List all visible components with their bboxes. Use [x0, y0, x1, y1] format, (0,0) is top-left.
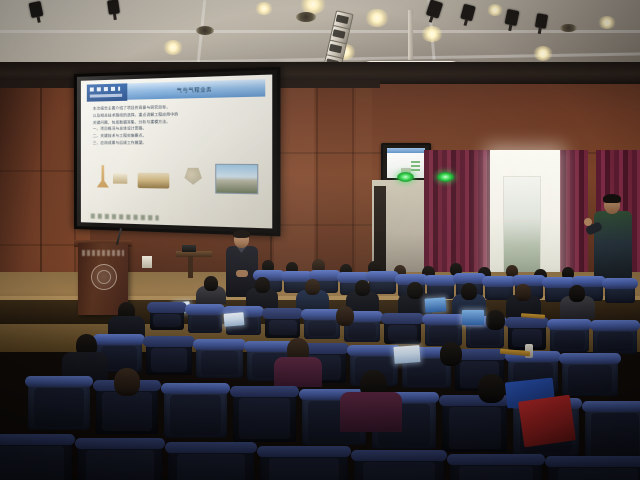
- seat[interactable]: [0, 436, 72, 480]
- audience-head: [255, 277, 270, 293]
- seat[interactable]: [304, 311, 340, 339]
- slide-body-text: 本次报告主要介绍了项目的背景与研究目标， 以及相关技术路线的选择。重点讲解工程应…: [93, 103, 261, 148]
- seat[interactable]: [427, 277, 454, 299]
- table-equipment: [182, 245, 196, 252]
- seat[interactable]: [585, 403, 640, 460]
- presenter-hair: [233, 230, 250, 238]
- audience-shoulders: [274, 357, 322, 387]
- audience-head: [461, 283, 477, 300]
- slide-figure-equipment-sketch: [113, 173, 127, 183]
- projection-screen[interactable]: 气与气程业务 本次报告主要介绍了项目的背景与研究目标， 以及相关技术路线的选择。…: [74, 67, 280, 237]
- laptop-screen[interactable]: [393, 345, 420, 364]
- recessed-light-icon: [560, 24, 577, 32]
- seat[interactable]: [384, 315, 421, 344]
- projector-mount-pole: [408, 10, 413, 62]
- slide-figure-tower-diagram: [97, 165, 109, 187]
- seat[interactable]: [260, 448, 348, 480]
- slide-line: 本次报告主要介绍了项目的背景与研究目标，: [93, 103, 261, 111]
- seat[interactable]: [78, 440, 162, 480]
- seat[interactable]: [168, 444, 254, 480]
- track-light-icon: [505, 9, 520, 26]
- audience-head: [515, 284, 531, 301]
- seat[interactable]: [196, 341, 243, 378]
- audience-seating: [0, 258, 640, 480]
- laptop-screen[interactable]: [462, 310, 484, 325]
- seat[interactable]: [354, 452, 444, 480]
- seat[interactable]: [146, 338, 192, 375]
- slide-figure-process-icon: [184, 168, 201, 185]
- lecture-hall-photo: 气与气程业务 本次报告主要介绍了项目的背景与研究目标， 以及相关技术路线的选择。…: [0, 0, 640, 480]
- exit-sign-right-icon: [437, 172, 454, 182]
- red-bag[interactable]: [518, 395, 576, 448]
- downlight-icon: [255, 2, 273, 15]
- seat[interactable]: [233, 388, 296, 442]
- seat[interactable]: [562, 355, 618, 396]
- slide-line: 二、关键技术与工程实施要点。: [93, 133, 261, 139]
- downlight-icon: [365, 9, 389, 27]
- recessed-light-icon: [296, 12, 316, 22]
- audience-head: [355, 280, 370, 296]
- audience-head: [478, 374, 505, 403]
- monitor-chart-icon: [411, 161, 420, 172]
- seat[interactable]: [188, 306, 222, 333]
- seat[interactable]: [450, 456, 542, 480]
- laptop-screen[interactable]: [425, 297, 447, 312]
- slide-title-bar: 气与气程业务: [127, 79, 265, 100]
- audience-head: [407, 282, 423, 299]
- audience-head: [204, 276, 218, 291]
- seat[interactable]: [605, 280, 635, 303]
- slide-title-text: 气与气程业务: [177, 86, 212, 94]
- audience-head: [440, 342, 462, 366]
- audience-shoulders: [340, 392, 402, 432]
- slide-line: 关键问题，包括数据采集、分析与建模方法。: [93, 118, 261, 125]
- seat[interactable]: [28, 378, 90, 430]
- slide-line: 以及相关技术路线的选择。重点讲解工程应用中的: [93, 111, 261, 118]
- audience-head: [486, 310, 505, 330]
- slide-line: 三、应用成果与后续工作展望。: [93, 140, 261, 145]
- laptop-screen[interactable]: [223, 312, 244, 327]
- podium-nameplate: [82, 250, 124, 256]
- exit-sign-left-icon: [397, 172, 414, 182]
- seat[interactable]: [593, 322, 637, 354]
- seat[interactable]: [150, 304, 184, 330]
- audience-head: [305, 279, 320, 295]
- monitor-slide-title-bar: [387, 148, 425, 153]
- seat[interactable]: [442, 397, 507, 452]
- seat[interactable]: [265, 310, 300, 338]
- track-light-icon: [107, 0, 120, 15]
- track-light-icon: [29, 1, 44, 18]
- track-light-icon: [535, 13, 548, 29]
- slide-line: 一、项目概况与总体设计思路。: [93, 125, 261, 131]
- audience-head: [569, 285, 585, 302]
- track-light-icon: [460, 4, 475, 22]
- slide-figure-landscape-photo: [215, 164, 258, 195]
- attendee-hair: [603, 194, 621, 203]
- downlight-icon: [487, 4, 503, 16]
- presentation-slide: 气与气程业务 本次报告主要介绍了项目的背景与研究目标， 以及相关技术路线的选择。…: [81, 75, 272, 229]
- slide-footer-text: [91, 213, 159, 220]
- seat[interactable]: [425, 316, 462, 346]
- audience-head: [336, 306, 354, 326]
- downlight-icon: [598, 16, 616, 29]
- downlight-icon: [533, 46, 553, 61]
- recessed-light-icon: [196, 26, 214, 35]
- seat[interactable]: [548, 458, 640, 480]
- seat[interactable]: [550, 321, 589, 352]
- downlight-icon: [163, 40, 183, 55]
- seat[interactable]: [164, 385, 227, 438]
- slide-logo: [87, 83, 127, 101]
- slide-figure-row: [95, 163, 263, 197]
- audience-head: [114, 368, 140, 396]
- slide-figure-machine-photo: [138, 173, 170, 189]
- attendee-hand: [584, 218, 592, 226]
- downlight-icon: [421, 26, 443, 42]
